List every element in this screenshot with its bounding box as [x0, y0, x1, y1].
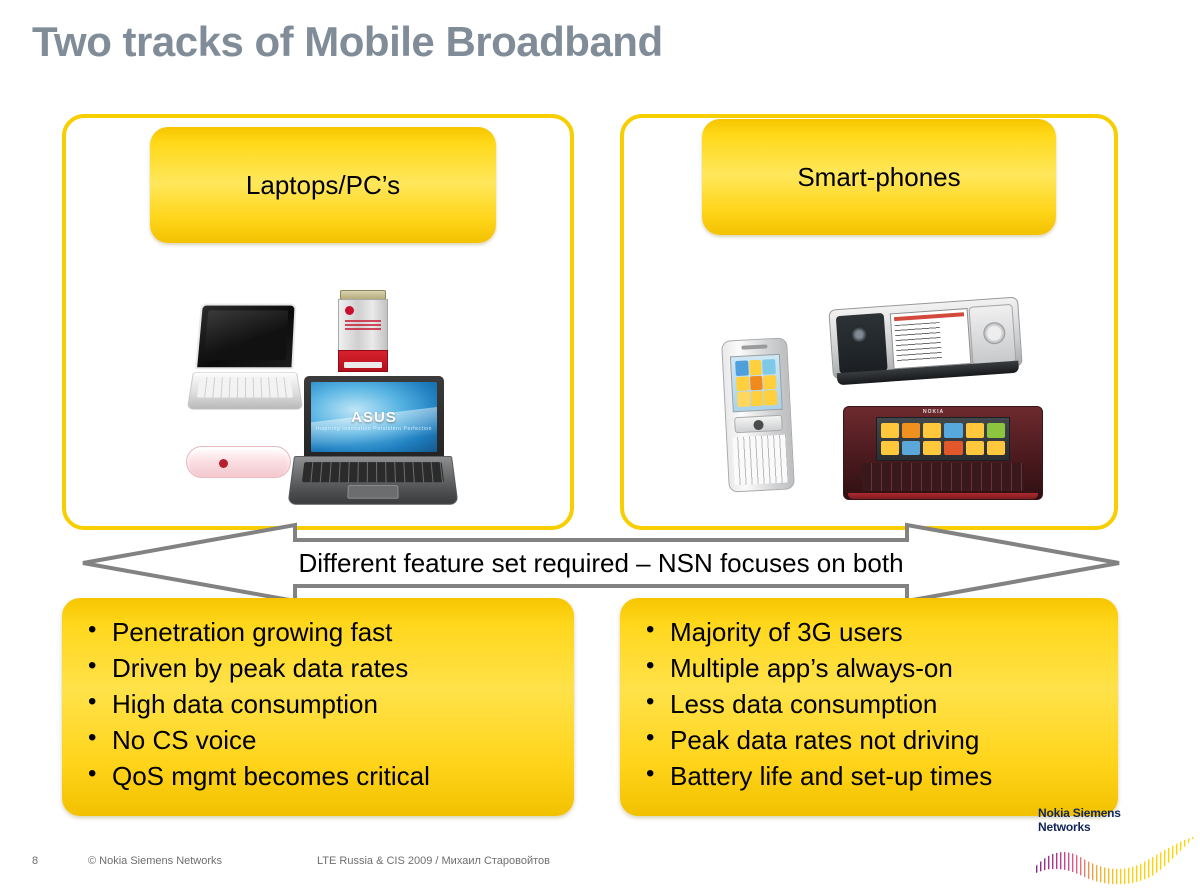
list-item: Peak data rates not driving	[642, 722, 1096, 758]
e61-navigation-pad	[734, 415, 783, 433]
double-arrow-banner: Different feature set required – NSN foc…	[80, 522, 1122, 604]
panel-laptops-label: Laptops/PC’s	[246, 172, 400, 198]
list-item: Less data consumption	[642, 686, 1096, 722]
panel-smartphones-label: Smart-phones	[797, 164, 960, 190]
e61-earpiece	[741, 344, 767, 349]
acer-netbook-image	[190, 303, 300, 415]
double-arrow-label: Different feature set required – NSN foc…	[80, 522, 1122, 604]
e90-qwerty-keyboard	[862, 463, 1024, 491]
slide-number: 8	[32, 855, 38, 867]
n95-camera-module	[836, 313, 888, 374]
asus-screen-tagline: Inspiring Innovation Persistent Perfecti…	[311, 426, 437, 432]
event-info: LTE Russia & CIS 2009 / Михаил Старовойт…	[317, 855, 550, 867]
list-item: QoS mgmt becomes critical	[84, 758, 552, 794]
asus-laptop-keyboard	[302, 462, 444, 482]
netbook-keyboard	[197, 377, 293, 397]
logo-wordmark: Nokia Siemens Networks	[1038, 806, 1158, 834]
e90-brand-text: NOKIA	[923, 409, 944, 415]
n95-display	[890, 308, 972, 369]
list-item: Penetration growing fast	[84, 614, 552, 650]
e61-display	[730, 354, 783, 413]
asus-screen-logo: ASUS	[311, 409, 437, 426]
list-item: High data consumption	[84, 686, 552, 722]
netbook-base	[187, 372, 303, 409]
list-item: Battery life and set-up times	[642, 758, 1096, 794]
e90-display	[876, 417, 1010, 461]
bullet-list-smartphones: Majority of 3G users Multiple app’s alwa…	[642, 614, 1096, 794]
netbook-screen	[195, 304, 297, 370]
e61-qwerty-keyboard	[732, 435, 788, 486]
copyright-notice: © Nokia Siemens Networks	[88, 855, 222, 867]
asus-laptop-lid: ASUS Inspiring Innovation Persistent Per…	[304, 376, 444, 458]
usb-modem-dongle-image	[186, 446, 291, 478]
list-item: Majority of 3G users	[642, 614, 1096, 650]
asus-laptop-image: ASUS Inspiring Innovation Persistent Per…	[294, 376, 452, 508]
slide-canvas: Two tracks of Mobile Broadband Laptops/P…	[0, 0, 1200, 888]
page-title: Two tracks of Mobile Broadband	[32, 18, 663, 66]
logo-wordmark-line2: Networks	[1038, 820, 1158, 834]
logo-wordmark-line1: Nokia Siemens	[1038, 806, 1158, 820]
bullet-list-laptops: Penetration growing fast Driven by peak …	[84, 614, 552, 794]
asus-laptop-screen: ASUS Inspiring Innovation Persistent Per…	[311, 382, 437, 452]
n95-keypad	[968, 304, 1016, 365]
nokia-e90-communicator-image: NOKIA	[843, 406, 1043, 500]
list-item: No CS voice	[84, 722, 552, 758]
asus-laptop-touchpad	[347, 485, 398, 499]
bullets-laptops: Penetration growing fast Driven by peak …	[62, 598, 574, 816]
asus-laptop-deck	[287, 456, 458, 505]
pcmcia-data-card-image	[338, 290, 388, 372]
e90-base-trim	[848, 493, 1038, 499]
data-card-body	[338, 299, 388, 351]
list-item: Multiple app’s always-on	[642, 650, 1096, 686]
panel-smartphones-label-tab: Smart-phones	[702, 119, 1056, 235]
list-item: Driven by peak data rates	[84, 650, 552, 686]
nokia-n95-slider-phone-image	[828, 296, 1023, 393]
logo-swoosh-icon	[1030, 834, 1198, 888]
nokia-siemens-networks-logo: Nokia Siemens Networks	[1038, 806, 1198, 888]
data-card-antenna	[338, 350, 388, 372]
bullets-smartphones: Majority of 3G users Multiple app’s alwa…	[620, 598, 1118, 816]
panel-laptops-label-tab: Laptops/PC’s	[150, 127, 496, 243]
nokia-e61-phone-image	[721, 337, 795, 492]
